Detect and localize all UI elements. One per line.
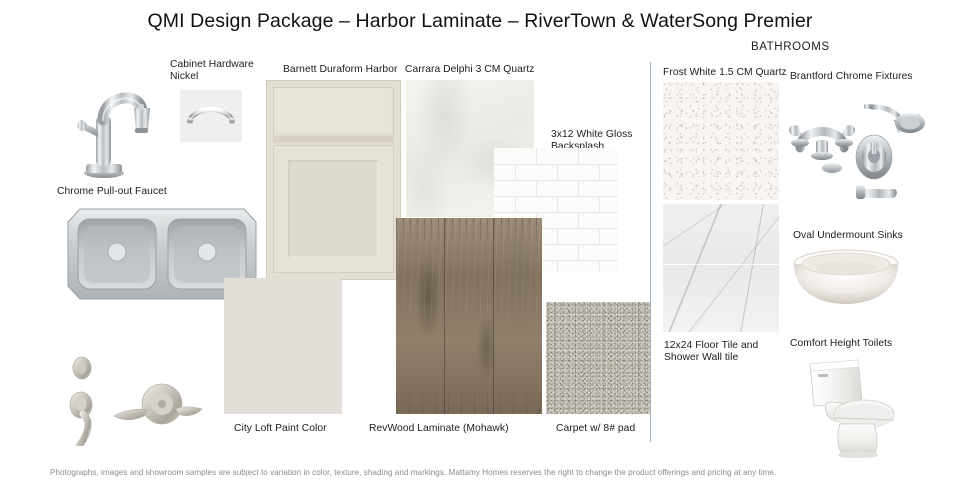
swatch-frost-white-quartz [663,82,779,200]
swatch-city-loft-paint [224,278,342,414]
caption-laminate: RevWood Laminate (Mohawk) [369,423,569,435]
design-selection-board: QMI Design Package – Harbor Laminate – R… [0,0,960,488]
caption-bath-tile: 12x24 Floor Tile and Shower Wall tile [664,340,784,365]
cabinet-door-frame [273,145,394,273]
swatch-revwood-laminate [396,218,542,414]
image-comfort-height-toilet [796,356,908,458]
image-oval-undermount-sink [790,244,902,306]
disclaimer-text: Photographs, images and showroom samples… [50,468,920,477]
page-title: QMI Design Package – Harbor Laminate – R… [0,10,960,33]
section-divider [650,62,651,442]
caption-bath-toilet: Comfort Height Toilets [790,338,940,350]
caption-kitchen-quartz: Carrara Delphi 3 CM Quartz [405,64,555,76]
cabinet-door-panel [288,160,379,258]
image-chrome-pullout-faucet [68,80,163,180]
image-brantford-chrome-fixtures [786,92,958,207]
swatch-cabinet-door-barnett-duraform-harbor [266,80,401,280]
caption-bath-quartz: Frost White 1.5 CM Quartz [663,67,793,79]
caption-chrome-pullout-faucet: Chrome Pull-out Faucet [57,186,217,198]
swatch-cabinet-hardware-nickel [180,90,242,142]
swatch-carpet [546,302,650,414]
swatch-12x24-floor-and-shower-tile [663,204,779,332]
caption-carpet: Carpet w/ 8# pad [556,423,666,435]
cabinet-drawer-front [273,87,394,137]
caption-paint: City Loft Paint Color [234,423,364,435]
caption-bath-fixtures: Brantford Chrome Fixtures [790,71,955,83]
section-header-bathrooms: BATHROOMS [751,41,830,53]
caption-bath-sinks: Oval Undermount Sinks [793,230,953,242]
image-satin-nickel-door-hardware [52,356,217,446]
cabinet-reveal [273,137,394,143]
